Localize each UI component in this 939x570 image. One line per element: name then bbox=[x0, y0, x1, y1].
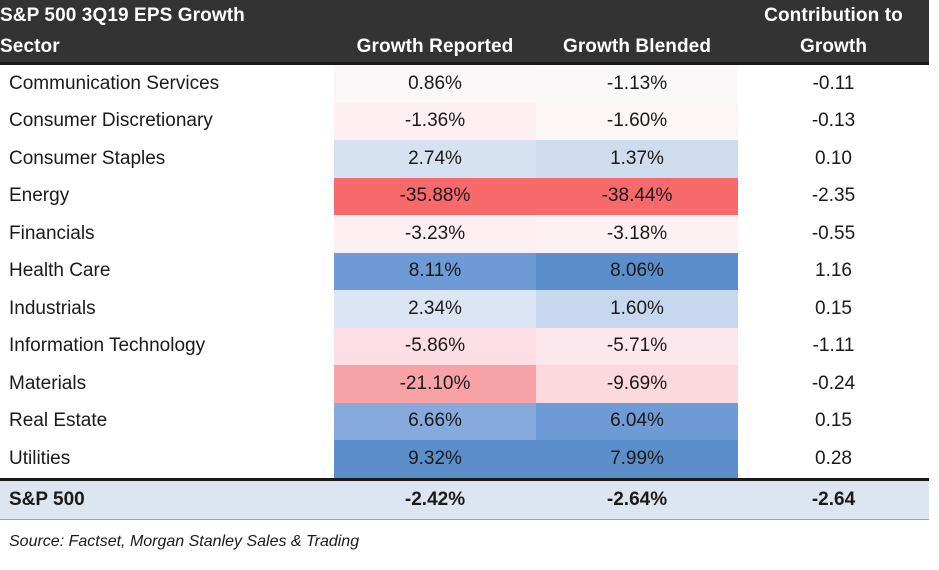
contribution-cell: -0.11 bbox=[738, 64, 929, 103]
contribution-title: Contribution to bbox=[738, 0, 929, 31]
growth-reported-cell: -1.36% bbox=[334, 103, 536, 141]
growth-blended-cell: -1.13% bbox=[536, 64, 738, 103]
column-header-growth-reported[interactable]: Growth Reported bbox=[334, 31, 536, 64]
contribution-cell: -0.55 bbox=[738, 215, 929, 253]
column-header-sector[interactable]: Sector bbox=[0, 31, 334, 64]
contribution-cell: -0.13 bbox=[738, 103, 929, 141]
table-body: Communication Services0.86%-1.13%-0.11Co… bbox=[0, 64, 929, 520]
growth-reported-cell: 8.11% bbox=[334, 253, 536, 291]
total-growth-blended: -2.64% bbox=[536, 479, 738, 519]
growth-blended-cell: 1.60% bbox=[536, 290, 738, 328]
table-row: Financials-3.23%-3.18%-0.55 bbox=[0, 215, 929, 253]
table-row: Industrials2.34%1.60%0.15 bbox=[0, 290, 929, 328]
growth-reported-cell: 9.32% bbox=[334, 440, 536, 479]
growth-reported-cell: 2.34% bbox=[334, 290, 536, 328]
table-row: Consumer Staples2.74%1.37%0.10 bbox=[0, 140, 929, 178]
total-row: S&P 500-2.42%-2.64%-2.64 bbox=[0, 479, 929, 519]
table-row: Consumer Discretionary-1.36%-1.60%-0.13 bbox=[0, 103, 929, 141]
growth-reported-cell: 0.86% bbox=[334, 64, 536, 103]
sector-name-cell: Health Care bbox=[0, 253, 334, 291]
source-note: Source: Factset, Morgan Stanley Sales & … bbox=[0, 520, 939, 551]
growth-blended-cell: 6.04% bbox=[536, 403, 738, 441]
growth-reported-cell: -35.88% bbox=[334, 178, 536, 216]
contribution-cell: 1.16 bbox=[738, 253, 929, 291]
eps-growth-table-sheet: S&P 500 3Q19 EPS Growth Contribution to … bbox=[0, 0, 939, 570]
page-title: S&P 500 3Q19 EPS Growth bbox=[0, 0, 334, 31]
table-row: Information Technology-5.86%-5.71%-1.11 bbox=[0, 328, 929, 366]
table-row: Communication Services0.86%-1.13%-0.11 bbox=[0, 64, 929, 103]
table-title-row: S&P 500 3Q19 EPS Growth Contribution to bbox=[0, 0, 929, 31]
contribution-cell: 0.28 bbox=[738, 440, 929, 479]
sector-name-cell: Consumer Discretionary bbox=[0, 103, 334, 141]
contribution-cell: -1.11 bbox=[738, 328, 929, 366]
table-row: Materials-21.10%-9.69%-0.24 bbox=[0, 365, 929, 403]
sector-name-cell: Consumer Staples bbox=[0, 140, 334, 178]
eps-growth-table: S&P 500 3Q19 EPS Growth Contribution to … bbox=[0, 0, 929, 520]
total-contribution: -2.64 bbox=[738, 479, 929, 519]
table-header: S&P 500 3Q19 EPS Growth Contribution to … bbox=[0, 0, 929, 64]
growth-reported-cell: 2.74% bbox=[334, 140, 536, 178]
sector-name-cell: Utilities bbox=[0, 440, 334, 479]
growth-blended-cell: -1.60% bbox=[536, 103, 738, 141]
growth-blended-cell: -3.18% bbox=[536, 215, 738, 253]
growth-blended-cell: -9.69% bbox=[536, 365, 738, 403]
sector-name-cell: Industrials bbox=[0, 290, 334, 328]
sector-name-cell: Financials bbox=[0, 215, 334, 253]
growth-reported-cell: -21.10% bbox=[334, 365, 536, 403]
growth-blended-cell: 1.37% bbox=[536, 140, 738, 178]
table-row: Health Care8.11%8.06%1.16 bbox=[0, 253, 929, 291]
contribution-cell: 0.10 bbox=[738, 140, 929, 178]
contribution-cell: -0.24 bbox=[738, 365, 929, 403]
growth-blended-cell: -38.44% bbox=[536, 178, 738, 216]
growth-blended-cell: -5.71% bbox=[536, 328, 738, 366]
total-sector-label: S&P 500 bbox=[0, 479, 334, 519]
table-row: Energy-35.88%-38.44%-2.35 bbox=[0, 178, 929, 216]
growth-blended-cell: 7.99% bbox=[536, 440, 738, 479]
column-header-growth-blended[interactable]: Growth Blended bbox=[536, 31, 738, 64]
table-row: Utilities9.32%7.99%0.28 bbox=[0, 440, 929, 479]
contribution-cell: 0.15 bbox=[738, 290, 929, 328]
contribution-cell: -2.35 bbox=[738, 178, 929, 216]
title-spacer-reported bbox=[334, 0, 536, 31]
growth-reported-cell: 6.66% bbox=[334, 403, 536, 441]
growth-reported-cell: -5.86% bbox=[334, 328, 536, 366]
sector-name-cell: Real Estate bbox=[0, 403, 334, 441]
column-header-row: Sector Growth Reported Growth Blended Gr… bbox=[0, 31, 929, 64]
title-spacer-blended bbox=[536, 0, 738, 31]
growth-reported-cell: -3.23% bbox=[334, 215, 536, 253]
growth-blended-cell: 8.06% bbox=[536, 253, 738, 291]
table-row: Real Estate6.66%6.04%0.15 bbox=[0, 403, 929, 441]
sector-name-cell: Information Technology bbox=[0, 328, 334, 366]
sector-name-cell: Energy bbox=[0, 178, 334, 216]
sector-name-cell: Communication Services bbox=[0, 64, 334, 103]
total-growth-reported: -2.42% bbox=[334, 479, 536, 519]
column-header-contribution[interactable]: Growth bbox=[738, 31, 929, 64]
contribution-cell: 0.15 bbox=[738, 403, 929, 441]
sector-name-cell: Materials bbox=[0, 365, 334, 403]
